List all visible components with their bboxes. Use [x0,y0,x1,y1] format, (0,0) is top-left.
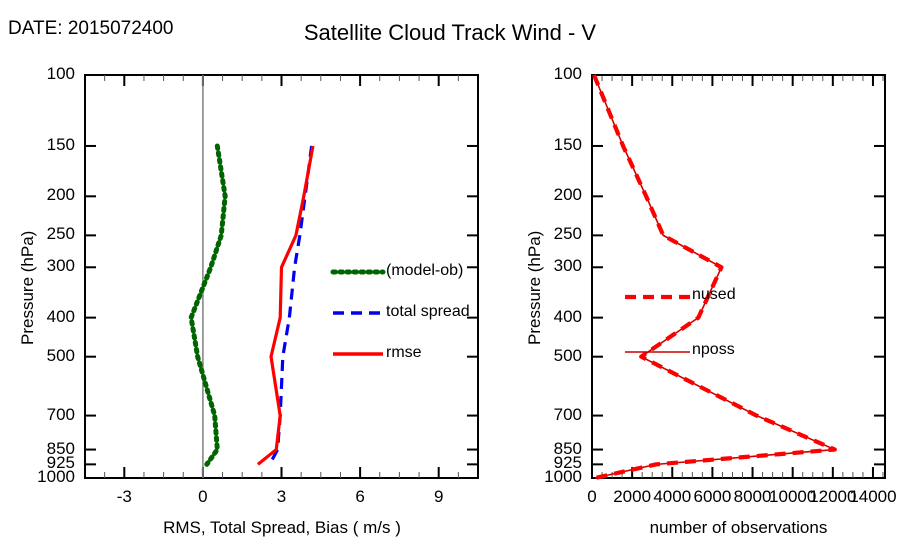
left-legend-label-0: (model-ob) [386,262,463,280]
right_panel-ytick-7: 700 [506,405,582,425]
left_panel-ytick-5: 400 [0,307,75,327]
left_panel-ytick-4: 300 [0,256,75,276]
right_panel-ytick-2: 200 [506,185,582,205]
right_panel-ytick-0: 100 [506,64,582,84]
right_panel-ytick-10: 1000 [506,467,582,487]
label-layer: -303691001502002503004005007008509251000… [0,0,900,560]
chart-root: DATE: 2015072400 Satellite Cloud Track W… [0,0,900,560]
right_panel-ytick-6: 500 [506,346,582,366]
left_panel-ytick-1: 150 [0,135,75,155]
left_panel-xtick-4: 9 [399,487,479,507]
right_panel-ytick-1: 150 [506,135,582,155]
right-legend-label-1: nposs [692,341,735,359]
right_panel-ytick-3: 250 [506,224,582,244]
right_panel-ytick-5: 400 [506,307,582,327]
left-legend-label-2: rmse [386,344,422,362]
left_panel-ytick-2: 200 [0,185,75,205]
left_panel-xtick-2: 3 [242,487,322,507]
left_panel-ytick-0: 100 [0,64,75,84]
right-legend-label-0: nused [692,286,736,304]
left_panel-ytick-6: 500 [0,346,75,366]
right_panel-xtick-7: 14000 [833,487,900,507]
left_panel-ytick-10: 1000 [0,467,75,487]
left_panel-ytick-3: 250 [0,224,75,244]
right_panel-ytick-4: 300 [506,256,582,276]
left_panel-xtick-1: 0 [163,487,243,507]
left_panel-ytick-7: 700 [0,405,75,425]
left_panel-xtick-3: 6 [320,487,400,507]
left_panel-xtick-0: -3 [84,487,164,507]
left-legend-label-1: total spread [386,303,470,321]
